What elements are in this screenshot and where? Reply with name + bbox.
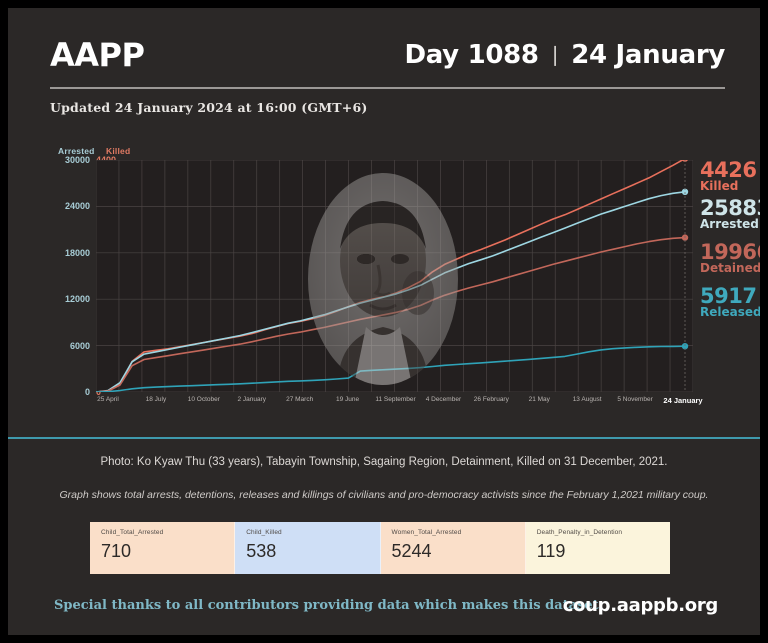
updated-timestamp: Updated 24 January 2024 at 16:00 (GMT+6) [50, 100, 367, 115]
stat-value: 119 [537, 541, 670, 562]
stat-box: Death_Penalty_in_Detention119 [526, 522, 670, 574]
y-tick-arrested: 6000 [38, 341, 90, 351]
endpoint-callout: 5917Released [700, 286, 760, 319]
x-tick-label: 4 December [426, 396, 461, 403]
stat-label: Death_Penalty_in_Detention [537, 529, 670, 536]
day-counter: Day 1088❘24 January [404, 40, 725, 70]
graph-description: Graph shows total arrests, detentions, r… [8, 489, 760, 501]
x-tick-label: 10 October [188, 396, 220, 403]
current-date: 24 January [571, 40, 725, 70]
x-tick-label: 27 March [286, 396, 313, 403]
stat-box: Child_Killed538 [235, 522, 380, 574]
y-tick-arrested: 24000 [38, 201, 90, 211]
stat-value: 5244 [392, 541, 525, 562]
y-tick-arrested: 12000 [38, 294, 90, 304]
chart: Arrested Killed 060001200018000240003000… [38, 146, 738, 416]
x-tick-label: 11 September [375, 396, 415, 403]
y-tick-arrested: 18000 [38, 248, 90, 258]
callout-value: 25883 [700, 198, 760, 218]
header-divider [50, 87, 725, 89]
stat-value: 710 [101, 541, 234, 562]
stat-label: Child_Total_Arrested [101, 529, 234, 536]
x-tick-label: 26 February [474, 396, 509, 403]
x-tick-label: 21 May [529, 396, 550, 403]
plot-area [96, 160, 693, 392]
stat-value: 538 [246, 541, 379, 562]
y-tick-arrested: 0 [38, 387, 90, 397]
stat-boxes: Child_Total_Arrested710Child_Killed538Wo… [90, 522, 670, 574]
x-tick-label: 2 January [237, 396, 266, 403]
stat-label: Women_Total_Arrested [392, 529, 525, 536]
callout-label: Arrested [700, 218, 760, 231]
thanks-text: Special thanks to all contributors provi… [54, 598, 603, 613]
stat-box: Women_Total_Arrested5244 [381, 522, 526, 574]
x-tick-label: 18 July [146, 396, 167, 403]
x-tick-label: 13 August [573, 396, 602, 403]
endpoint-callout: 25883Arrested [700, 198, 760, 231]
callout-label: Detained [700, 262, 760, 275]
poster-card: AAPP Day 1088❘24 January Updated 24 Janu… [8, 8, 760, 635]
stat-label: Child_Killed [246, 529, 379, 536]
endpoint-callout: 19966Detained [700, 242, 760, 275]
photo-caption: Photo: Ko Kyaw Thu (33 years), Tabayin T… [8, 456, 760, 468]
stat-box: Child_Total_Arrested710 [90, 522, 235, 574]
day-number: Day 1088 [404, 40, 538, 70]
y-tick-arrested: 30000 [38, 155, 90, 165]
callout-value: 5917 [700, 286, 760, 306]
x-tick-label: 25 April [97, 396, 119, 403]
website-link[interactable]: coup.aappb.org [563, 595, 718, 616]
page-title: AAPP [50, 36, 144, 74]
header: AAPP Day 1088❘24 January [50, 36, 725, 94]
callout-value: 4426 [700, 160, 756, 180]
endpoint-callout: 4426Killed [700, 160, 756, 193]
callout-value: 19966 [700, 242, 760, 262]
x-tick-label: 24 January [663, 396, 702, 405]
section-divider [8, 437, 760, 439]
callout-label: Released [700, 306, 760, 319]
x-tick-label: 5 November [617, 396, 652, 403]
series-lines [96, 160, 693, 392]
x-tick-label: 19 June [336, 396, 359, 403]
day-separator: ❘ [547, 42, 563, 66]
